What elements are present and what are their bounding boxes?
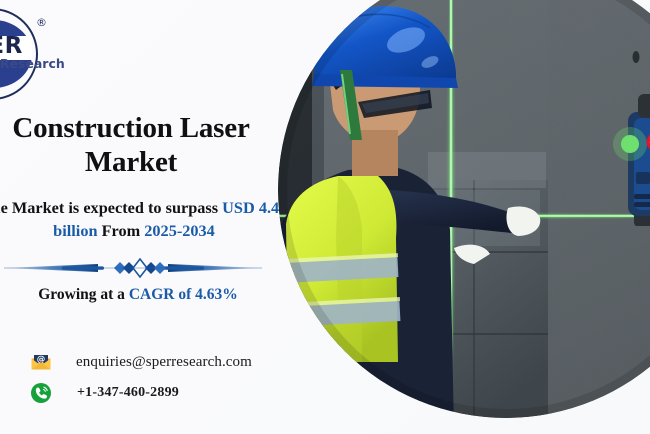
envelope-at-icon: @ — [30, 351, 52, 373]
headline-line-1: Construction Laser — [12, 112, 249, 144]
hero-photo: BOSCH Professional — [278, 0, 650, 418]
headline-line-2: Market — [85, 146, 177, 178]
market-value-statement: The Market is expected to surpass USD 4.… — [0, 196, 290, 242]
ornamental-divider — [2, 258, 264, 278]
cagr-statement: Growing at a CAGR of 4.63% — [0, 286, 294, 304]
brand-logo[interactable]: SPER Market Research ® Quality Research — [0, 2, 86, 102]
page-title: Construction Laser Market — [0, 112, 290, 179]
cagr-value: CAGR of 4.63% — [129, 286, 238, 303]
phone-number[interactable]: +1-347-460-2899 — [77, 385, 179, 401]
subhead-part-1: The Market is expected to surpass — [0, 198, 222, 217]
promo-banner: SPER Market Research ® Quality Research … — [0, 0, 650, 434]
registered-trademark-icon: ® — [36, 16, 47, 29]
logo-tagline: Market Research — [0, 58, 65, 71]
email-address[interactable]: enquiries@sperresearch.com — [76, 354, 252, 371]
subhead-forecast-period: 2025-2034 — [144, 221, 215, 240]
subhead-part-2: From — [98, 221, 145, 240]
logo-arc-label: Quality Research — [0, 80, 42, 102]
contact-email-row[interactable]: @ enquiries@sperresearch.com — [30, 351, 252, 373]
logo-wordmark: SPER — [0, 35, 23, 58]
cagr-prefix: Growing at a — [38, 286, 129, 303]
contact-phone-row[interactable]: +1-347-460-2899 — [30, 382, 179, 404]
phone-circle-icon — [30, 382, 52, 404]
